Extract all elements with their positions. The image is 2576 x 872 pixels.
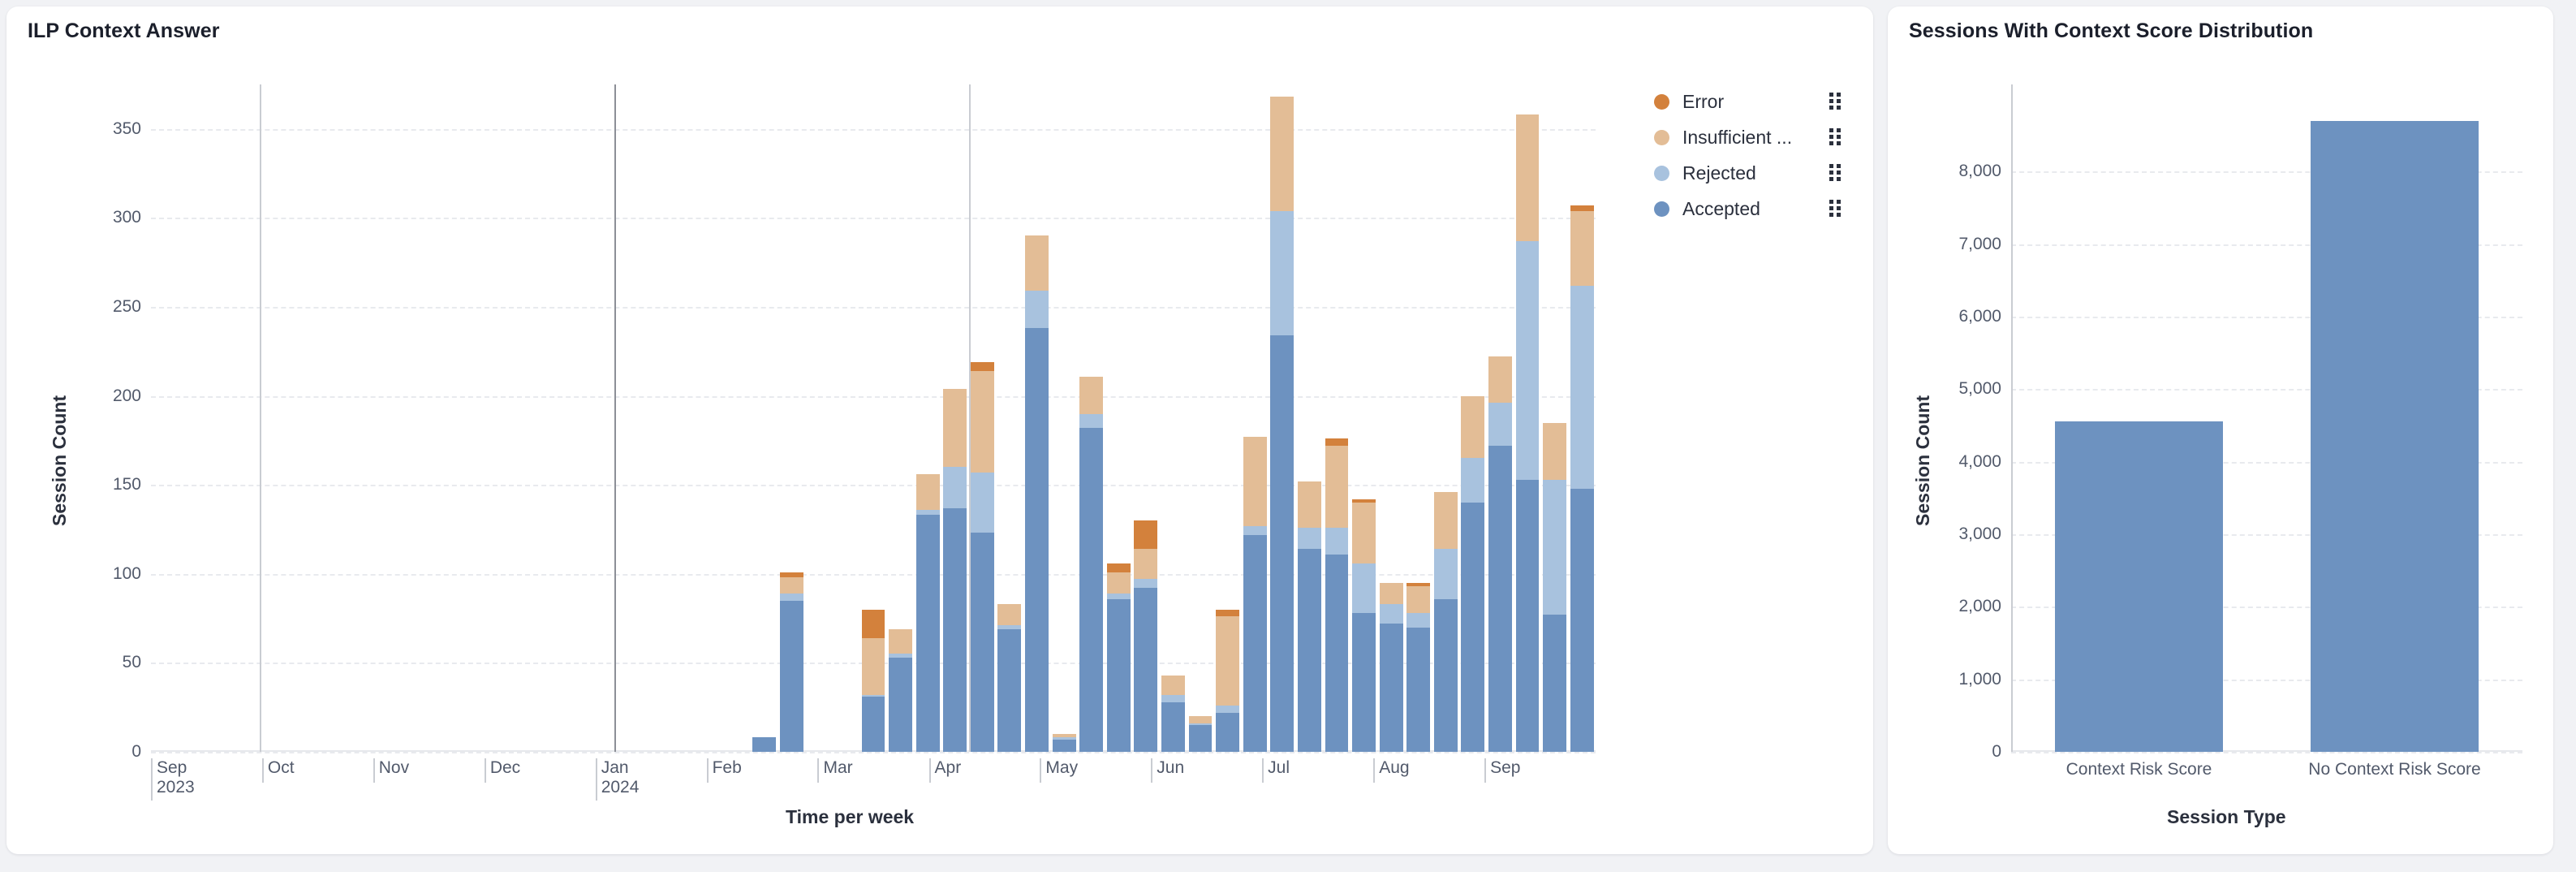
legend-item-error[interactable]: Error	[1654, 84, 1841, 119]
bar-segment-accepted[interactable]	[1570, 489, 1594, 752]
stacked-bar[interactable]	[971, 362, 994, 752]
bar-segment-rejected[interactable]	[1434, 549, 1458, 598]
legend-item-label: Accepted	[1682, 198, 1829, 220]
bar-segment-rejected[interactable]	[1406, 613, 1430, 628]
bar-segment-accepted[interactable]	[1380, 624, 1403, 752]
bar-segment-error[interactable]	[1216, 610, 1239, 617]
x-tick-label-left: Mar	[817, 758, 852, 783]
stacked-bar[interactable]	[1161, 676, 1185, 752]
chart-sessions-distribution: 01,0002,0003,0004,0005,0006,0007,0008,00…	[1888, 6, 2553, 854]
bar-segment-accepted[interactable]	[1543, 615, 1566, 752]
bar-segment-insufficient[interactable]	[1570, 211, 1594, 286]
bar-segment-rejected[interactable]	[1270, 211, 1294, 335]
y-tick-label-left: 350	[113, 119, 141, 139]
y-tick-label-right: 7,000	[1958, 235, 2001, 254]
y-tick-label-right: 6,000	[1958, 307, 2001, 326]
bar-segment-insufficient[interactable]	[1216, 616, 1239, 706]
bar-segment-accepted[interactable]	[1025, 328, 1049, 752]
bar-segment-accepted[interactable]	[1134, 588, 1157, 752]
stacked-bar[interactable]	[1243, 437, 1267, 752]
stacked-bar[interactable]	[752, 737, 776, 752]
stacked-bar[interactable]	[1380, 583, 1403, 752]
bar-segment-rejected[interactable]	[1134, 579, 1157, 588]
y-axis-ticks-right: 01,0002,0003,0004,0005,0006,0007,0008,00…	[1888, 84, 2001, 752]
legend-left: ErrorInsufficient ...RejectedAccepted	[1654, 84, 1841, 227]
bar-segment-insufficient[interactable]	[1189, 716, 1213, 723]
bar-segment-accepted[interactable]	[1053, 740, 1076, 752]
bar-segment-rejected[interactable]	[1161, 695, 1185, 702]
drag-handle-icon[interactable]	[1829, 128, 1841, 146]
bar-segment-insufficient[interactable]	[1488, 356, 1512, 403]
stacked-bar[interactable]	[1079, 377, 1103, 753]
month-divider-line	[614, 84, 616, 752]
y-tick-label-right: 4,000	[1958, 452, 2001, 472]
bar-segment-accepted[interactable]	[862, 697, 885, 752]
bar-segment-insufficient[interactable]	[1270, 97, 1294, 210]
stacked-bar[interactable]	[1352, 499, 1376, 752]
panel-sessions-with-context-score-distribution: Sessions With Context Score Distribution…	[1888, 6, 2553, 854]
bar-segment-insufficient[interactable]	[997, 604, 1021, 625]
y-tick-label-left: 100	[113, 564, 141, 584]
bar-segment-insufficient[interactable]	[1352, 503, 1376, 563]
stacked-bar[interactable]	[1053, 734, 1076, 752]
plot-area-right	[2011, 84, 2522, 752]
bar-context-risk-score[interactable]	[2055, 421, 2224, 752]
bar-segment-insufficient[interactable]	[1406, 586, 1430, 613]
bar-segment-insufficient[interactable]	[943, 389, 967, 467]
bar-segment-rejected[interactable]	[780, 594, 803, 601]
bar-segment-insufficient[interactable]	[916, 474, 940, 510]
y-tick-label-left: 0	[131, 742, 141, 762]
bar-segment-accepted[interactable]	[1352, 613, 1376, 752]
bar-segment-rejected[interactable]	[1543, 480, 1566, 615]
y-tick-label-left: 300	[113, 208, 141, 227]
y-axis-ticks-left: 050100150200250300350	[6, 84, 141, 752]
y-tick-label-left: 50	[123, 653, 141, 672]
bar-segment-insufficient[interactable]	[1107, 572, 1131, 594]
stacked-bar[interactable]	[916, 474, 940, 752]
y-tick-label-left: 200	[113, 386, 141, 406]
bar-segment-insufficient[interactable]	[1543, 423, 1566, 480]
bar-segment-rejected[interactable]	[1516, 241, 1540, 480]
x-tick-label-left: Feb	[707, 758, 742, 783]
bar-segment-rejected[interactable]	[1380, 604, 1403, 624]
x-tick-label-left: Dec	[485, 758, 520, 783]
bar-segment-insufficient[interactable]	[1434, 492, 1458, 549]
drag-handle-icon[interactable]	[1829, 93, 1841, 110]
legend-item-label: Insufficient ...	[1682, 127, 1829, 149]
bar-segment-insufficient[interactable]	[1325, 446, 1349, 528]
x-tick-label-left: Jun	[1151, 758, 1184, 783]
legend-color-swatch-icon	[1654, 201, 1669, 217]
bar-segment-rejected[interactable]	[1488, 403, 1512, 446]
bar-segment-rejected[interactable]	[1216, 706, 1239, 713]
bar-segment-accepted[interactable]	[1461, 503, 1484, 752]
plot-area-left	[151, 84, 1596, 752]
bar-segment-accepted[interactable]	[1298, 549, 1321, 752]
x-tick-label-left: Jul	[1262, 758, 1290, 783]
bar-segment-insufficient[interactable]	[862, 638, 885, 695]
legend-item-rejected[interactable]: Rejected	[1654, 155, 1841, 191]
bar-segment-insufficient[interactable]	[1461, 396, 1484, 459]
stacked-bar[interactable]	[1270, 97, 1294, 752]
dashboard-root: ILP Context Answer Session Count Time pe…	[0, 0, 2576, 872]
legend-item-accepted[interactable]: Accepted	[1654, 191, 1841, 227]
bar-segment-accepted[interactable]	[1516, 480, 1540, 752]
bar-segment-rejected[interactable]	[1461, 458, 1484, 503]
gridline-right	[2011, 752, 2522, 753]
panel-ilp-context-answer: ILP Context Answer Session Count Time pe…	[6, 6, 1873, 854]
bar-segment-accepted[interactable]	[1406, 628, 1430, 752]
bar-segment-accepted[interactable]	[1189, 725, 1213, 752]
stacked-bar[interactable]	[1406, 583, 1430, 752]
bar-segment-insufficient[interactable]	[780, 577, 803, 594]
bar-segment-insufficient[interactable]	[971, 371, 994, 473]
stacked-bar[interactable]	[1461, 396, 1484, 752]
month-divider-line	[260, 84, 261, 752]
x-tick-label-left: Aug	[1373, 758, 1409, 783]
bar-segment-accepted[interactable]	[916, 515, 940, 752]
bar-segment-insufficient[interactable]	[1243, 437, 1267, 526]
bar-segment-accepted[interactable]	[1488, 446, 1512, 752]
x-tick-label-left: Sep	[1484, 758, 1520, 783]
y-tick-label-right: 2,000	[1958, 597, 2001, 616]
stacked-bar[interactable]	[1325, 438, 1349, 752]
stacked-bar[interactable]	[943, 389, 967, 752]
stacked-bar[interactable]	[1189, 716, 1213, 752]
bar-segment-rejected[interactable]	[1570, 286, 1594, 489]
bar-segment-accepted[interactable]	[1107, 599, 1131, 753]
bar-segment-accepted[interactable]	[1434, 599, 1458, 753]
y-tick-label-right: 8,000	[1958, 162, 2001, 181]
bar-segment-insufficient[interactable]	[1298, 481, 1321, 528]
x-tick-label-right: Context Risk Score	[2066, 760, 2212, 779]
stacked-bar[interactable]	[1298, 481, 1321, 752]
bar-segment-accepted[interactable]	[1243, 535, 1267, 752]
bar-segment-error[interactable]	[1325, 438, 1349, 446]
x-tick-label-left: Sep 2023	[151, 758, 195, 801]
bar-segment-accepted[interactable]	[971, 533, 994, 752]
bar-segment-rejected[interactable]	[1352, 563, 1376, 613]
gridline-left	[151, 218, 1596, 219]
bar-segment-rejected[interactable]	[971, 473, 994, 533]
chart-ilp-context-answer: 050100150200250300350 Sep 2023OctNovDecJ…	[6, 6, 1873, 854]
stacked-bar[interactable]	[1516, 114, 1540, 752]
bar-segment-rejected[interactable]	[1325, 528, 1349, 555]
stacked-bar[interactable]	[1488, 356, 1512, 752]
y-tick-label-left: 150	[113, 475, 141, 494]
bar-segment-accepted[interactable]	[889, 658, 912, 752]
y-tick-label-right: 5,000	[1958, 379, 2001, 399]
y-tick-label-right: 3,000	[1958, 524, 2001, 544]
bar-segment-insufficient[interactable]	[1079, 377, 1103, 414]
bar-segment-accepted[interactable]	[780, 601, 803, 752]
x-tick-label-left: Jan 2024	[596, 758, 640, 801]
bar-segment-insufficient[interactable]	[1161, 676, 1185, 695]
bar-segment-accepted[interactable]	[1079, 428, 1103, 752]
x-axis-ticks-left: Sep 2023OctNovDecJan 2024FebMarAprMayJun…	[151, 757, 1596, 805]
stacked-bar[interactable]	[1216, 610, 1239, 752]
bar-segment-error[interactable]	[971, 362, 994, 371]
gridline-left	[151, 129, 1596, 131]
bar-segment-accepted[interactable]	[1161, 702, 1185, 752]
gridline-left	[151, 574, 1596, 576]
legend-color-swatch-icon	[1654, 94, 1669, 110]
gridline-left	[151, 485, 1596, 486]
bar-segment-insufficient[interactable]	[1025, 235, 1049, 291]
stacked-bar[interactable]	[862, 610, 885, 752]
gridline-left	[151, 307, 1596, 309]
y-tick-label-right: 0	[1992, 742, 2001, 762]
stacked-bar[interactable]	[1434, 492, 1458, 752]
legend-item-label: Rejected	[1682, 162, 1829, 184]
legend-item-label: Error	[1682, 91, 1829, 113]
bar-segment-error[interactable]	[1134, 520, 1157, 549]
bar-segment-accepted[interactable]	[1270, 335, 1294, 752]
stacked-bar[interactable]	[1134, 520, 1157, 752]
bar-segment-rejected[interactable]	[1025, 291, 1049, 328]
x-tick-label-left: May	[1040, 758, 1078, 783]
stacked-bar[interactable]	[1107, 563, 1131, 752]
bar-segment-accepted[interactable]	[1325, 555, 1349, 752]
x-tick-label-right: No Context Risk Score	[2308, 760, 2480, 779]
stacked-bar[interactable]	[1570, 205, 1594, 752]
drag-handle-icon[interactable]	[1829, 164, 1841, 182]
x-tick-label-left: Oct	[262, 758, 295, 783]
x-axis-ticks-right: Context Risk ScoreNo Context Risk Score	[2011, 757, 2522, 789]
stacked-bar[interactable]	[889, 629, 912, 752]
legend-color-swatch-icon	[1654, 166, 1669, 181]
y-axis-spine-right	[2011, 84, 2013, 752]
y-tick-label-right: 1,000	[1958, 670, 2001, 689]
x-tick-label-left: Nov	[373, 758, 409, 783]
stacked-bar[interactable]	[1543, 422, 1566, 752]
stacked-bar[interactable]	[997, 604, 1021, 752]
gridline-left	[151, 752, 1596, 753]
stacked-bar[interactable]	[780, 572, 803, 752]
bar-segment-accepted[interactable]	[752, 737, 776, 752]
bar-segment-error[interactable]	[1107, 563, 1131, 572]
bar-segment-error[interactable]	[862, 610, 885, 638]
drag-handle-icon[interactable]	[1829, 200, 1841, 218]
bar-segment-accepted[interactable]	[1216, 713, 1239, 752]
bar-segment-insufficient[interactable]	[889, 629, 912, 654]
gridline-left	[151, 396, 1596, 398]
bar-segment-rejected[interactable]	[943, 467, 967, 507]
y-tick-label-left: 250	[113, 297, 141, 317]
bar-segment-rejected[interactable]	[1298, 528, 1321, 549]
bar-no-context-risk-score[interactable]	[2311, 121, 2479, 752]
bar-segment-accepted[interactable]	[943, 508, 967, 752]
bar-segment-insufficient[interactable]	[1516, 114, 1540, 241]
x-tick-label-left: Apr	[929, 758, 962, 783]
bar-segment-insufficient[interactable]	[1380, 583, 1403, 604]
stacked-bar[interactable]	[1025, 235, 1049, 752]
bar-segment-accepted[interactable]	[997, 629, 1021, 752]
bar-segment-rejected[interactable]	[1243, 526, 1267, 535]
legend-color-swatch-icon	[1654, 130, 1669, 145]
bar-segment-insufficient[interactable]	[1134, 549, 1157, 579]
legend-item-insufficient[interactable]: Insufficient ...	[1654, 119, 1841, 155]
bar-segment-rejected[interactable]	[1079, 414, 1103, 429]
